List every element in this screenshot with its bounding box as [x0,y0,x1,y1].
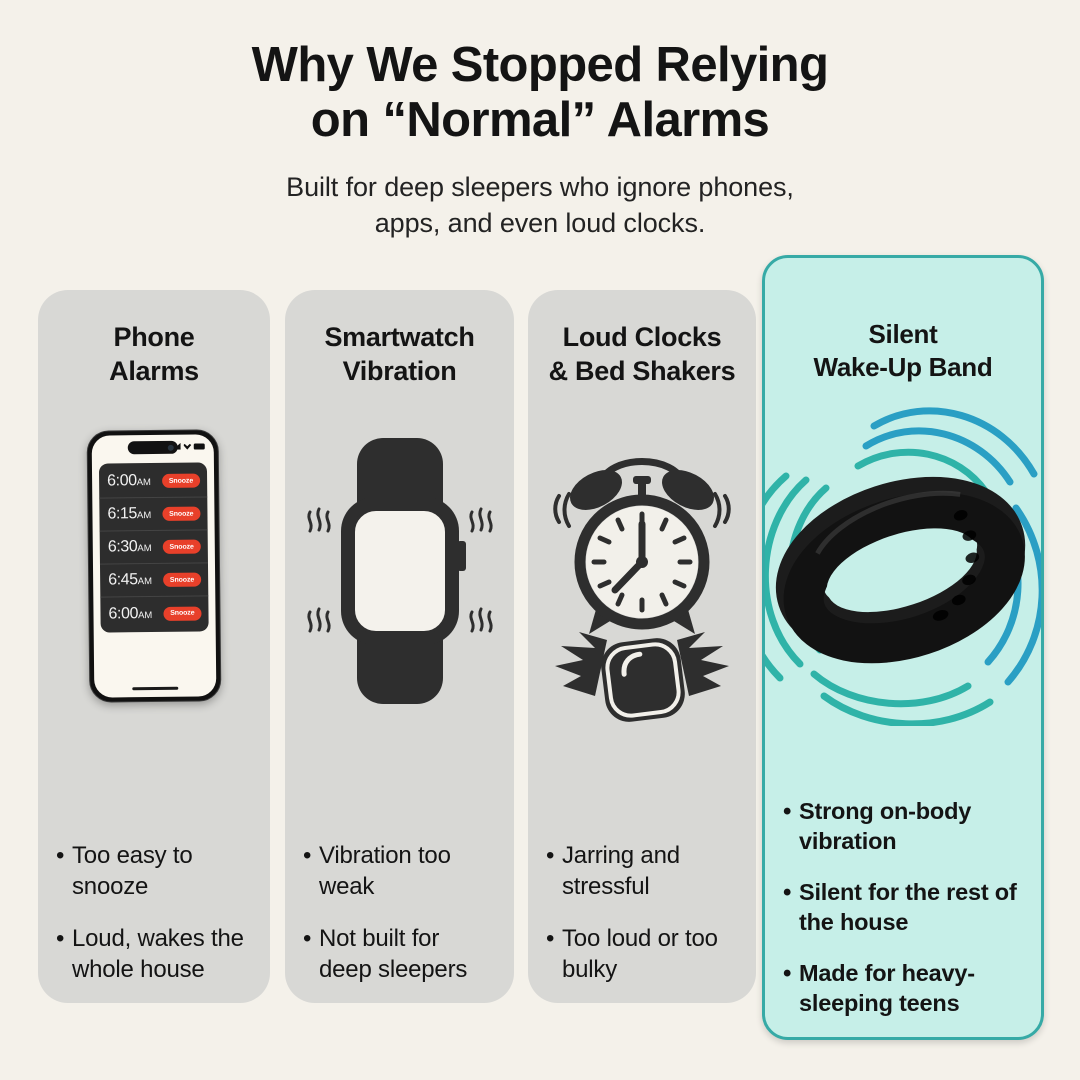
card-silent-wake-up-band[interactable]: Silent Wake-Up Band [762,255,1044,1040]
smartwatch-illustration [285,388,514,748]
bullet-marker-icon: • [546,923,562,954]
dynamic-island [128,441,178,455]
bullet-marker-icon: • [303,840,319,871]
list-item: • Loud, wakes the whole house [56,923,254,985]
bullet-list-phone-alarms: • Too easy to snooze • Loud, wakes the w… [38,840,270,1003]
vibration-wave-icon [466,606,496,642]
card-title-line-2: & Bed Shakers [538,354,746,388]
alarm-time: 6:30AM [108,538,152,556]
page-subtitle-line-1: Built for deep sleepers who ignore phone… [0,169,1080,205]
vibration-wave-icon [304,506,334,542]
card-title-line-1: Silent [775,318,1031,351]
bullet-text: Loud, wakes the whole house [72,923,254,985]
smartwatch-icon [300,436,500,706]
page-title-line-2: on “Normal” Alarms [90,93,990,148]
phone-screen: 6:00AM Snooze 6:15AM Snooze 6:30AM Snooz… [92,434,217,697]
alarm-row[interactable]: 6:00AM Snooze [100,596,208,630]
bullet-list-silent-wake-up-band: • Strong on-body vibration • Silent for … [765,796,1041,1037]
bullet-marker-icon: • [783,796,799,827]
list-item: • Vibration too weak [303,840,498,902]
clock-and-shaker-illustration [528,388,756,748]
watch-crown [457,541,466,571]
alarm-row[interactable]: 6:45AM Snooze [100,563,208,597]
card-title-line-2: Vibration [295,354,504,388]
wristband-illustration [762,396,1044,726]
card-title-loud-clocks-bed-shakers: Loud Clocks & Bed Shakers [528,320,756,388]
phone-alarm-illustration: 6:00AM Snooze 6:15AM Snooze 6:30AM Snooz… [38,388,270,748]
watch-face [352,508,448,634]
card-title-line-2: Alarms [48,354,260,388]
bullet-list-smartwatch-vibration: • Vibration too weak • Not built for dee… [285,840,514,1003]
card-loud-clocks-bed-shakers[interactable]: Loud Clocks & Bed Shakers [528,290,756,1003]
wristband-icon [782,473,1022,667]
alarm-time: 6:15AM [107,505,151,523]
card-title-smartwatch-vibration: Smartwatch Vibration [285,320,514,388]
snooze-button[interactable]: Snooze [162,507,200,521]
list-item: • Strong on-body vibration [783,796,1025,857]
bullet-marker-icon: • [546,840,562,871]
bullet-text: Silent for the rest of the house [799,877,1025,938]
alarm-row[interactable]: 6:00AM Snooze [99,464,207,498]
page-title-line-1: Why We Stopped Relying [90,38,990,93]
bullet-marker-icon: • [303,923,319,954]
bullet-marker-icon: • [783,958,799,989]
card-smartwatch-vibration[interactable]: Smartwatch Vibration [285,290,514,1003]
snooze-button[interactable]: Snooze [162,540,200,554]
comparison-card-row: Phone Alarms 6:00AM Snooze [0,255,1080,1055]
home-indicator [132,687,178,690]
list-item: • Too loud or too bulky [546,923,740,985]
wifi-icon [183,443,191,450]
card-title-line-2: Wake-Up Band [775,351,1031,384]
bullet-list-loud-clocks-bed-shakers: • Jarring and stressful • Too loud or to… [528,840,756,1003]
battery-icon [194,443,205,449]
card-title-line-1: Loud Clocks [538,320,746,354]
header: Why We Stopped Relying on “Normal” Alarm… [0,0,1080,241]
list-item: • Too easy to snooze [56,840,254,902]
page-subtitle: Built for deep sleepers who ignore phone… [0,169,1080,241]
page-title: Why We Stopped Relying on “Normal” Alarm… [0,38,1080,149]
alarm-time: 6:00AM [107,472,151,490]
bullet-marker-icon: • [56,923,72,954]
list-item: • Jarring and stressful [546,840,740,902]
alarm-clock-icon [555,462,729,635]
bullet-text: Too loud or too bulky [562,923,740,985]
bullet-text: Too easy to snooze [72,840,254,902]
bullet-text: Vibration too weak [319,840,498,902]
alarm-time: 6:00AM [108,605,152,623]
bullet-text: Strong on-body vibration [799,796,1025,857]
phone-mockup: 6:00AM Snooze 6:15AM Snooze 6:30AM Snooz… [87,429,222,702]
list-item: • Made for heavy-sleeping teens [783,958,1025,1019]
alarm-row[interactable]: 6:15AM Snooze [99,497,207,531]
alarm-list: 6:00AM Snooze 6:15AM Snooze 6:30AM Snooz… [99,462,209,632]
bullet-marker-icon: • [783,877,799,908]
card-phone-alarms[interactable]: Phone Alarms 6:00AM Snooze [38,290,270,1003]
watch-case [341,497,459,645]
bullet-text: Made for heavy-sleeping teens [799,958,1025,1019]
card-title-line-1: Phone [48,320,260,354]
page-subtitle-line-2: apps, and even loud clocks. [0,205,1080,241]
status-bar-icons [173,442,205,449]
clock-shaker-group [537,428,747,758]
snooze-button[interactable]: Snooze [162,474,200,488]
bullet-text: Jarring and stressful [562,840,740,902]
signal-icon [173,443,181,450]
card-title-silent-wake-up-band: Silent Wake-Up Band [765,318,1041,384]
bed-shaker-icon [555,632,729,725]
alarm-time: 6:45AM [108,571,152,589]
bullet-marker-icon: • [56,840,72,871]
card-title-phone-alarms: Phone Alarms [38,320,270,388]
vibration-wave-icon [304,606,334,642]
vibration-wave-icon [466,506,496,542]
snooze-button[interactable]: Snooze [163,606,201,620]
alarm-row[interactable]: 6:30AM Snooze [100,530,208,564]
list-item: • Silent for the rest of the house [783,877,1025,938]
bullet-text: Not built for deep sleepers [319,923,498,985]
card-title-line-1: Smartwatch [295,320,504,354]
list-item: • Not built for deep sleepers [303,923,498,985]
snooze-button[interactable]: Snooze [163,573,201,587]
